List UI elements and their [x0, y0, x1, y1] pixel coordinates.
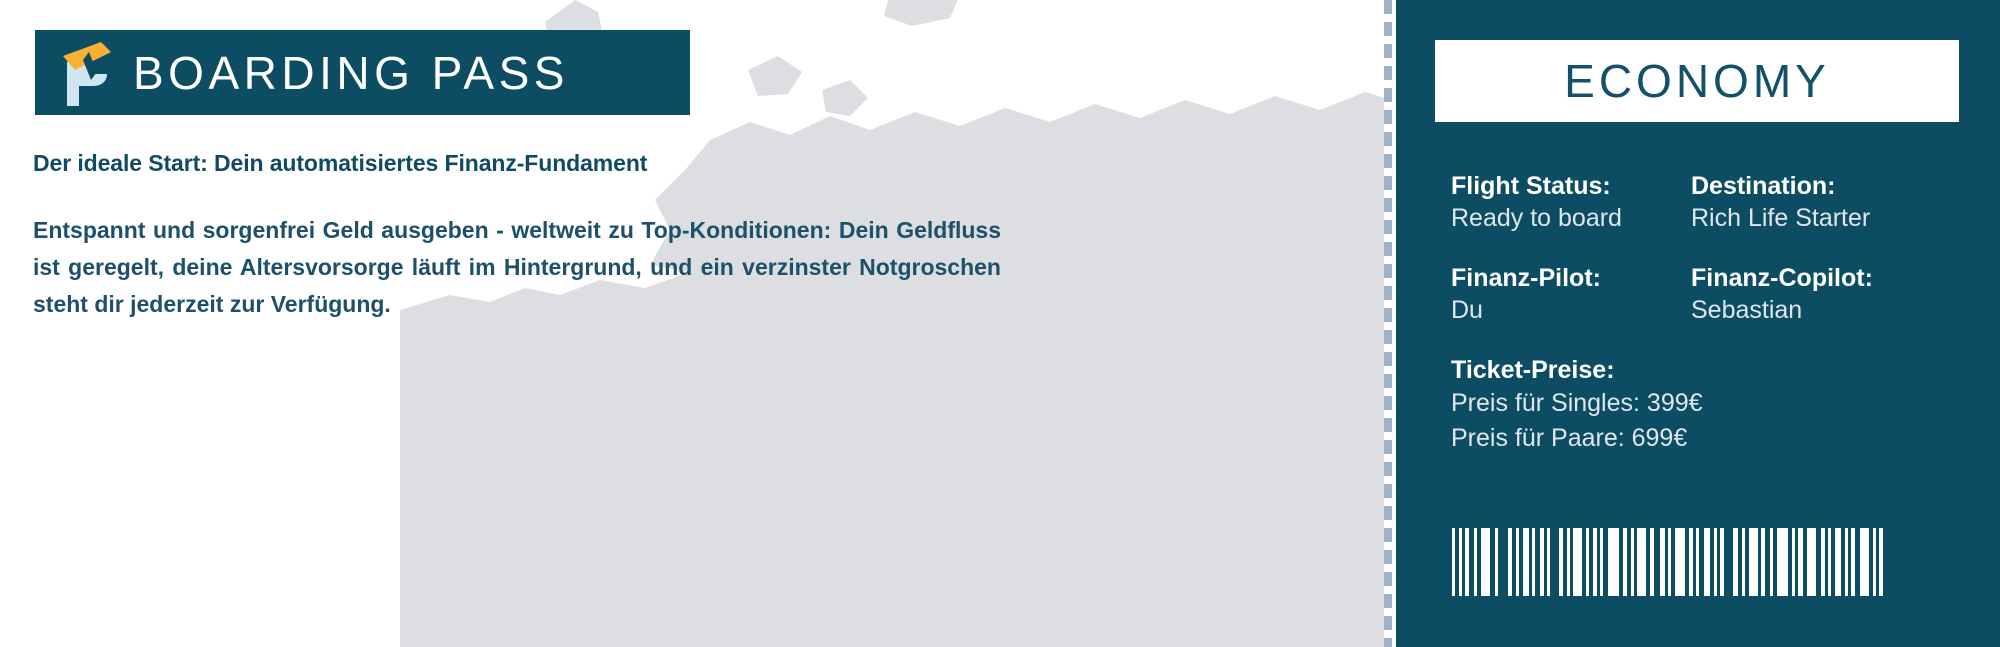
barcode-bar — [1777, 528, 1788, 596]
barcode-bar — [1807, 528, 1816, 596]
barcode-bar — [1573, 528, 1582, 596]
class-badge: ECONOMY — [1435, 40, 1959, 122]
barcode-bar — [1481, 528, 1490, 596]
perforation-divider — [1384, 0, 1392, 647]
plane-flag-logo-icon — [53, 38, 115, 108]
price-line-singles: Preis für Singles: 399€ — [1451, 386, 1971, 422]
detail-value: Sebastian — [1691, 294, 1971, 328]
boarding-pass-header-bar: BOARDING PASS — [35, 30, 690, 115]
barcode-bar — [1637, 528, 1646, 596]
detail-destination: Destination: Rich Life Starter — [1691, 170, 1971, 236]
page-title: BOARDING PASS — [133, 50, 569, 96]
class-badge-label: ECONOMY — [1564, 58, 1830, 104]
barcode-bar — [1860, 528, 1869, 596]
detail-label: Finanz-Copilot: — [1691, 262, 1971, 294]
barcode-bar — [1675, 528, 1685, 596]
boarding-pass-card: BOARDING PASS Der ideale Start: Dein aut… — [0, 0, 2000, 647]
detail-flight-status: Flight Status: Ready to board — [1451, 170, 1691, 236]
barcode-bar — [1749, 528, 1758, 596]
barcode-bar — [1608, 528, 1619, 596]
ticket-prices: Ticket-Preise: Preis für Singles: 399€ P… — [1451, 354, 1971, 457]
detail-row-status: Flight Status: Ready to board Destinatio… — [1451, 170, 1971, 236]
detail-value: Rich Life Starter — [1691, 202, 1971, 236]
flight-details: Flight Status: Ready to board Destinatio… — [1451, 170, 1971, 457]
copy-paragraph: Entspannt und sorgenfrei Geld ausgeben -… — [33, 212, 1001, 324]
barcode-space — [1724, 528, 1733, 596]
copy-headline: Der ideale Start: Dein automatisiertes F… — [33, 150, 1001, 178]
detail-label: Flight Status: — [1451, 170, 1691, 202]
ticket-prices-label: Ticket-Preise: — [1451, 354, 1971, 386]
barcode-space — [1550, 528, 1559, 596]
detail-label: Finanz-Pilot: — [1451, 262, 1691, 294]
price-line-couples: Preis für Paare: 699€ — [1451, 421, 1971, 457]
detail-finanz-copilot: Finanz-Copilot: Sebastian — [1691, 262, 1971, 328]
barcode-space — [1498, 528, 1508, 596]
barcode-space — [1883, 528, 1887, 596]
boarding-pass-stub: ECONOMY Flight Status: Ready to board De… — [1396, 0, 2000, 647]
detail-row-pilots: Finanz-Pilot: Du Finanz-Copilot: Sebasti… — [1451, 262, 1971, 328]
copy-block: Der ideale Start: Dein automatisiertes F… — [33, 150, 1001, 323]
detail-label: Destination: — [1691, 170, 1971, 202]
barcode-icon — [1452, 528, 1948, 596]
detail-value: Du — [1451, 294, 1691, 328]
detail-value: Ready to board — [1451, 202, 1691, 236]
detail-finanz-pilot: Finanz-Pilot: Du — [1451, 262, 1691, 328]
